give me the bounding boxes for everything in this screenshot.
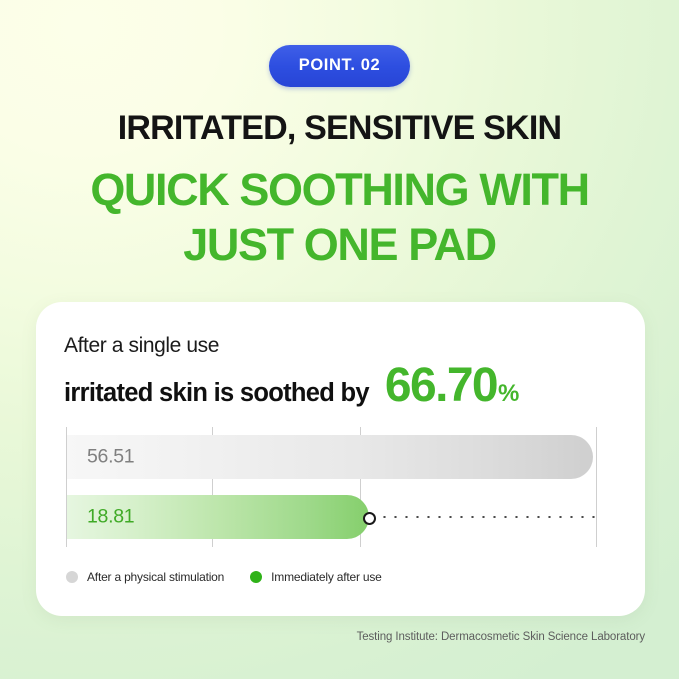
legend-item-physical-stimulation: After a physical stimulation — [66, 570, 224, 584]
card-header: After a single use irritated skin is soo… — [64, 333, 621, 410]
highlight-value: 66.70 — [385, 362, 497, 410]
point-badge: POINT. 02 — [269, 45, 411, 87]
promo-page: POINT. 02 IRRITATED, SENSITIVE SKIN QUIC… — [0, 0, 679, 679]
value-marker-icon — [363, 512, 376, 525]
result-card: After a single use irritated skin is soo… — [36, 302, 645, 616]
headline-secondary: QUICK SOOTHING WITH JUST ONE PAD — [0, 163, 679, 273]
badge-container: POINT. 02 — [0, 45, 679, 87]
card-statement: irritated skin is soothed by — [64, 379, 369, 408]
legend-label-immediately-after-use: Immediately after use — [271, 570, 382, 584]
testing-institute-note: Testing Institute: Dermacosmetic Skin Sc… — [0, 631, 645, 643]
card-eyebrow: After a single use — [64, 333, 621, 358]
chart-row-physical-stimulation: 56.51 — [66, 435, 626, 479]
bar-physical-stimulation — [67, 435, 593, 479]
legend-label-physical-stimulation: After a physical stimulation — [87, 570, 224, 584]
headline-primary: IRRITATED, SENSITIVE SKIN — [0, 111, 679, 147]
bar-value-immediately-after-use: 18.81 — [87, 506, 134, 529]
legend-dot-green-icon — [250, 571, 262, 583]
bar-value-physical-stimulation: 56.51 — [87, 446, 134, 469]
soothing-bar-chart: 56.51 18.81 — [66, 427, 626, 547]
headline-secondary-line2: JUST ONE PAD — [0, 218, 679, 273]
chart-row-immediately-after-use: 18.81 — [66, 495, 626, 539]
legend-dot-gray-icon — [66, 571, 78, 583]
legend-item-immediately-after-use: Immediately after use — [250, 570, 382, 584]
card-statement-row: irritated skin is soothed by 66.70 % — [64, 362, 621, 410]
highlight-unit: % — [498, 380, 519, 408]
headline-secondary-line1: QUICK SOOTHING WITH — [0, 163, 679, 218]
chart-legend: After a physical stimulation Immediately… — [66, 570, 408, 584]
reference-dotted-line — [368, 516, 597, 518]
